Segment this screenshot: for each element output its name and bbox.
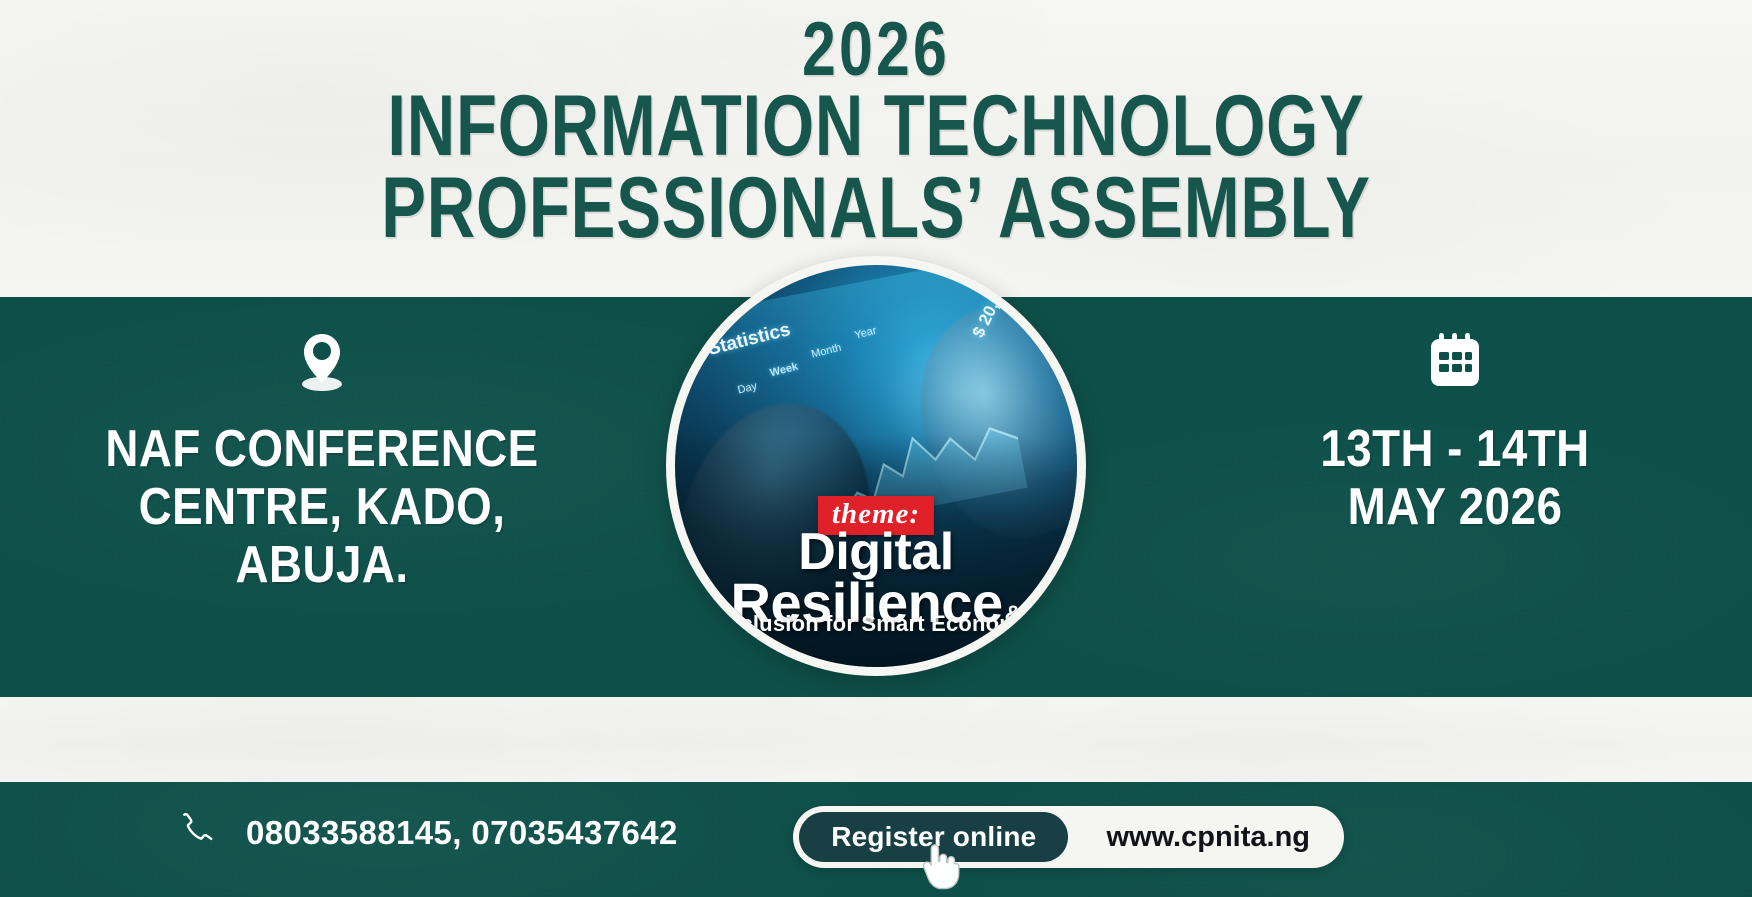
screen-tab-year: Year [854, 325, 878, 342]
venue-text: NAF Conference Centre, Kado, Abuja. [102, 420, 542, 595]
title-line-3: Professionals’ Assembly [193, 170, 1560, 247]
date-block: 13th - 14th May 2026 [1220, 330, 1690, 536]
title-year: 2026 [175, 16, 1577, 84]
calendar-icon [1423, 330, 1487, 394]
phone-numbers: 08033588145, 07035437642 [246, 814, 678, 852]
theme-subtitle: Inclusion for Smart Economy [675, 611, 1077, 637]
theme-medallion: Statistics Day Week Month Year $ 20,000 … [666, 256, 1086, 676]
page-title: 2026 Information Technology Professional… [0, 16, 1752, 247]
website-url[interactable]: www.cpnita.ng [1106, 821, 1310, 854]
background-band-middle [0, 697, 1752, 783]
register-online-button[interactable]: Register online [799, 812, 1068, 862]
register-pill: Register online www.cpnita.ng [793, 806, 1344, 868]
location-pin-icon [290, 330, 354, 394]
date-text: 13th - 14th May 2026 [1248, 420, 1662, 536]
screen-tab-week: Week [769, 361, 800, 380]
screen-tab-month: Month [810, 342, 843, 361]
venue-block: NAF Conference Centre, Kado, Abuja. [72, 330, 572, 595]
contact-phone-block: 08033588145, 07035437642 [176, 812, 678, 854]
event-banner: 2026 Information Technology Professional… [0, 0, 1752, 897]
title-line-2: Information Technology [193, 88, 1560, 165]
phone-icon [176, 812, 218, 854]
medallion-photo: Statistics Day Week Month Year $ 20,000 … [675, 265, 1077, 667]
